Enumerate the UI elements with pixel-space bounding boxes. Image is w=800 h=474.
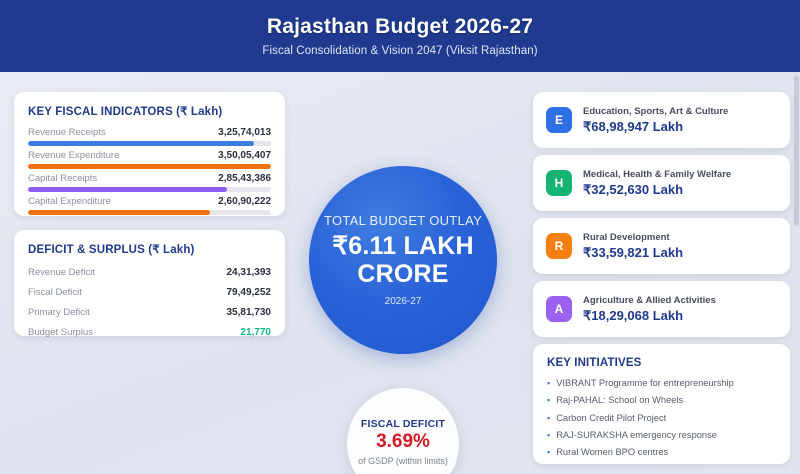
sector-name: Rural Development <box>583 232 683 243</box>
deficit-surplus-value: 21,770 <box>240 327 271 338</box>
bullet-icon: ▪ <box>547 395 550 406</box>
key-initiatives-title: KEY INITIATIVES <box>547 357 790 369</box>
fiscal-indicator-bar-fill <box>28 210 210 215</box>
total-outlay-amount: ₹6.11 LAKH CRORE <box>309 232 497 288</box>
deficit-surplus-card: DEFICIT & SURPLUS (₹ Lakh) Revenue Defic… <box>14 230 285 336</box>
sector-card[interactable]: HMedical, Health & Family Welfare₹32,52,… <box>533 155 790 211</box>
deficit-surplus-row: Fiscal Deficit79,49,252 <box>28 287 271 298</box>
page-scrollbar[interactable] <box>793 72 800 474</box>
fiscal-indicator-value: 3,50,05,407 <box>218 150 271 161</box>
deficit-surplus-row: Primary Deficit35,81,730 <box>28 307 271 318</box>
sector-badge-icon: R <box>546 233 572 259</box>
total-outlay-year: 2026-27 <box>385 296 422 307</box>
fiscal-indicator-bar-track <box>28 187 271 192</box>
deficit-surplus-label: Revenue Deficit <box>28 267 95 278</box>
fiscal-indicator-value: 2,60,90,222 <box>218 196 271 207</box>
page-title: Rajasthan Budget 2026-27 <box>267 15 533 38</box>
sector-name: Medical, Health & Family Welfare <box>583 169 731 180</box>
sector-badge-icon: H <box>546 170 572 196</box>
sector-text: Rural Development₹33,59,821 Lakh <box>583 232 683 261</box>
sector-name: Education, Sports, Art & Culture <box>583 106 728 117</box>
key-initiatives-list: ▪VIBRANT Programme for entrepreneurship▪… <box>547 378 776 458</box>
deficit-surplus-value: 24,31,393 <box>227 267 272 278</box>
deficit-surplus-list: Revenue Deficit24,31,393Fiscal Deficit79… <box>14 267 285 338</box>
fiscal-indicator-row: Capital Expenditure2,60,90,222 <box>28 196 271 207</box>
key-initiatives-card: KEY INITIATIVES ▪VIBRANT Programme for e… <box>533 344 790 464</box>
key-initiative-item: ▪Carbon Credit Pilot Project <box>547 413 776 424</box>
deficit-surplus-value: 35,81,730 <box>227 307 272 318</box>
key-initiative-item: ▪RAJ-SURAKSHA emergency response <box>547 430 776 441</box>
deficit-surplus-row: Budget Surplus21,770 <box>28 327 271 338</box>
sector-amount: ₹68,98,947 Lakh <box>583 119 728 135</box>
fiscal-indicator-bar-fill <box>28 164 271 169</box>
total-outlay-kicker: TOTAL BUDGET OUTLAY <box>324 213 482 228</box>
sector-amount: ₹33,59,821 Lakh <box>583 245 683 261</box>
deficit-surplus-label: Primary Deficit <box>28 307 90 318</box>
sector-badge-icon: A <box>546 296 572 322</box>
bullet-icon: ▪ <box>547 447 550 458</box>
sector-badge-icon: E <box>546 107 572 133</box>
deficit-surplus-label: Budget Surplus <box>28 327 93 338</box>
total-budget-outlay-circle: TOTAL BUDGET OUTLAY ₹6.11 LAKH CRORE 202… <box>309 166 497 354</box>
deficit-surplus-row: Revenue Deficit24,31,393 <box>28 267 271 278</box>
fiscal-deficit-label: FISCAL DEFICIT <box>361 418 445 430</box>
fiscal-deficit-gauge: FISCAL DEFICIT 3.69% of GSDP (within lim… <box>347 388 459 474</box>
fiscal-indicator-label: Revenue Receipts <box>28 127 106 138</box>
fiscal-deficit-note: of GSDP (within limits) <box>358 456 448 466</box>
key-initiative-text: Rural Women BPO centres <box>556 447 668 457</box>
fiscal-indicator-bar-track <box>28 141 271 146</box>
fiscal-indicator-value: 3,25,74,013 <box>218 127 271 138</box>
fiscal-indicator-row: Revenue Receipts3,25,74,013 <box>28 127 271 138</box>
key-initiative-text: VIBRANT Programme for entrepreneurship <box>556 378 734 388</box>
sector-amount: ₹18,29,068 Lakh <box>583 308 716 324</box>
sector-card[interactable]: EEducation, Sports, Art & Culture₹68,98,… <box>533 92 790 148</box>
page-subtitle: Fiscal Consolidation & Vision 2047 (Viks… <box>262 45 537 57</box>
bullet-icon: ▪ <box>547 413 550 424</box>
page-header: Rajasthan Budget 2026-27 Fiscal Consolid… <box>0 0 800 72</box>
deficit-surplus-label: Fiscal Deficit <box>28 287 82 298</box>
key-initiative-item: ▪Raj-PAHAL: School on Wheels <box>547 395 776 406</box>
sector-name: Agriculture & Allied Activities <box>583 295 716 306</box>
deficit-surplus-value: 79,49,252 <box>227 287 272 298</box>
key-fiscal-indicators-title: KEY FISCAL INDICATORS (₹ Lakh) <box>28 104 285 118</box>
fiscal-indicator-row: Revenue Expenditure3,50,05,407 <box>28 150 271 161</box>
key-fiscal-indicators-list: Revenue Receipts3,25,74,013Revenue Expen… <box>14 127 285 215</box>
fiscal-deficit-value: 3.69% <box>376 432 430 453</box>
fiscal-indicator-bar-track <box>28 210 271 215</box>
fiscal-indicator-label: Capital Receipts <box>28 173 97 184</box>
fiscal-indicator-bar-fill <box>28 187 227 192</box>
sector-text: Education, Sports, Art & Culture₹68,98,9… <box>583 106 728 135</box>
fiscal-indicator-label: Revenue Expenditure <box>28 150 119 161</box>
deficit-surplus-title: DEFICIT & SURPLUS (₹ Lakh) <box>28 242 285 256</box>
page-scrollbar-thumb[interactable] <box>794 76 799 226</box>
fiscal-indicator-row: Capital Receipts2,85,43,386 <box>28 173 271 184</box>
bullet-icon: ▪ <box>547 430 550 441</box>
dashboard-body: KEY FISCAL INDICATORS (₹ Lakh) Revenue R… <box>0 72 800 474</box>
sector-card[interactable]: RRural Development₹33,59,821 Lakh <box>533 218 790 274</box>
key-initiative-text: RAJ-SURAKSHA emergency response <box>556 430 717 440</box>
key-initiative-text: Carbon Credit Pilot Project <box>556 413 666 423</box>
sector-amount: ₹32,52,630 Lakh <box>583 182 731 198</box>
fiscal-indicator-value: 2,85,43,386 <box>218 173 271 184</box>
fiscal-indicator-bar-track <box>28 164 271 169</box>
fiscal-indicator-label: Capital Expenditure <box>28 196 111 207</box>
sector-text: Medical, Health & Family Welfare₹32,52,6… <box>583 169 731 198</box>
key-fiscal-indicators-card: KEY FISCAL INDICATORS (₹ Lakh) Revenue R… <box>14 92 285 216</box>
bullet-icon: ▪ <box>547 378 550 389</box>
sector-card[interactable]: AAgriculture & Allied Activities₹18,29,0… <box>533 281 790 337</box>
key-initiative-text: Raj-PAHAL: School on Wheels <box>556 395 683 405</box>
key-initiative-item: ▪Rural Women BPO centres <box>547 447 776 458</box>
fiscal-indicator-bar-fill <box>28 141 254 146</box>
key-initiative-item: ▪VIBRANT Programme for entrepreneurship <box>547 378 776 389</box>
sector-text: Agriculture & Allied Activities₹18,29,06… <box>583 295 716 324</box>
